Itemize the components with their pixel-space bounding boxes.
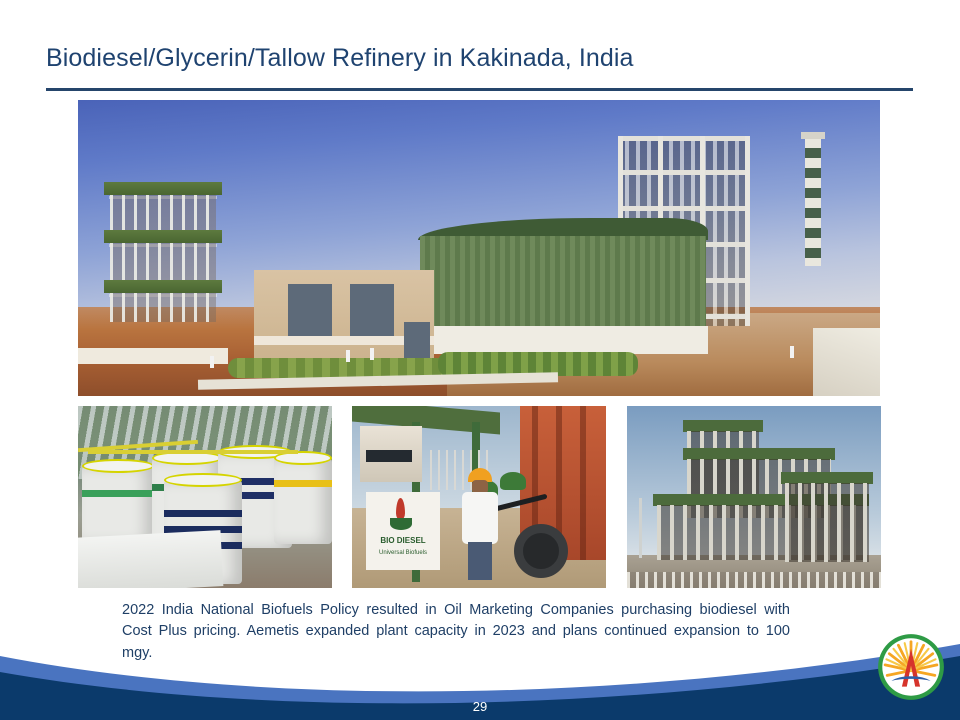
aemetis-logo xyxy=(876,632,946,702)
biodiesel-sign-line1: BIO DIESEL xyxy=(366,536,440,545)
refinery-panorama-image xyxy=(78,100,880,396)
page-number: 29 xyxy=(0,699,960,714)
biodiesel-sign-line2: Universal Biofuels xyxy=(366,550,440,556)
page-title: Biodiesel/Glycerin/Tallow Refinery in Ka… xyxy=(46,44,634,73)
storage-tank-farm-image xyxy=(78,406,332,588)
title-divider xyxy=(46,88,913,91)
biodiesel-truck-fueling-image: BIO DIESEL Universal Biofuels xyxy=(352,406,606,588)
process-plant-structure-image xyxy=(627,406,881,588)
slide-caption: 2022 India National Biofuels Policy resu… xyxy=(122,600,790,664)
